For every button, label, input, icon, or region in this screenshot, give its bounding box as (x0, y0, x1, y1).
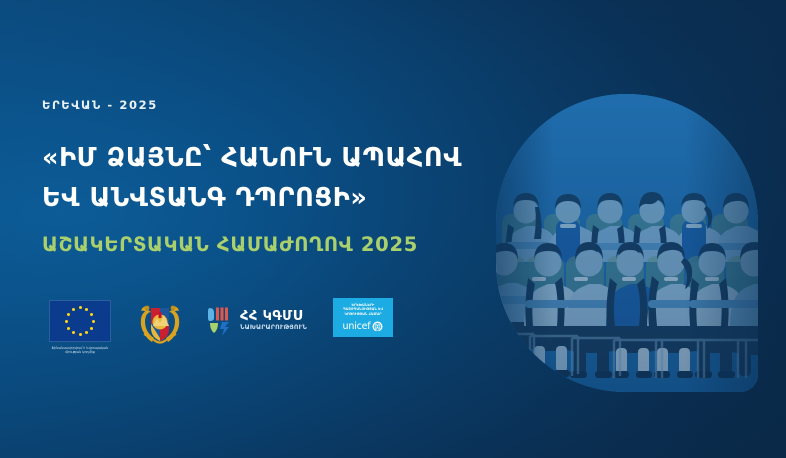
poster-headline: «ԻՄ ՁԱՅՆԸ՝ ՀԱՆՈՒՆ ԱՊԱՀՈՎ ԵՎ ԱՆՎՏԱՆԳ ԴՊՐՈ… (42, 138, 462, 218)
poster-text-block: ԵՐԵՎԱՆ - 2025 «ԻՄ ՁԱՅՆԸ՝ ՀԱՆՈՒՆ ԱՊԱՀՈՎ Ե… (42, 98, 462, 258)
headline-line-2: ԵՎ ԱՆՎՏԱՆԳ ԴՊՐՈՑԻ» (42, 178, 462, 218)
ministry-abbr: ՀՀ ԿԳՄՍ (240, 310, 307, 324)
unicef-badge: ԵՐԵԽԱՆԵՐԻ ՊԱՇՏՊԱՆՈՒԹՅԱՆ ԵՎ ԿՐԹՈՒԹՅԱՆ ՀԱՄ… (333, 298, 393, 337)
ministry-word: ՆԱԽԱՐԱՐՈՒԹՅՈՒՆ (240, 325, 307, 332)
armenia-coat-of-arms-logo (138, 300, 182, 348)
partner-logos-row: Ֆինանսավորվում է Եվրոպական միության կողմ… (48, 300, 393, 355)
ministry-logo: ՀՀ ԿԳՄՍ ՆԱԽԱՐԱՐՈՒԹՅՈՒՆ (208, 300, 307, 336)
event-location-year: ԵՐԵՎԱՆ - 2025 (42, 98, 462, 112)
eu-flag-icon (49, 300, 111, 342)
unicef-lockup: unicef (343, 321, 384, 332)
ministry-mark-icon (208, 306, 234, 336)
students-illustration-panel (496, 94, 758, 392)
students-illustration (496, 94, 758, 392)
eu-logo: Ֆինանսավորվում է Եվրոպական միության կողմ… (48, 300, 112, 355)
conference-poster: ԵՐԵՎԱՆ - 2025 «ԻՄ ՁԱՅՆԸ՝ ՀԱՆՈՒՆ ԱՊԱՀՈՎ Ե… (0, 0, 786, 458)
eu-stars (65, 306, 95, 336)
ministry-text: ՀՀ ԿԳՄՍ ՆԱԽԱՐԱՐՈՒԹՅՈՒՆ (240, 310, 307, 331)
eu-funding-caption: Ֆինանսավորվում է Եվրոպական միության կողմ… (45, 346, 115, 355)
headline-line-1: «ԻՄ ՁԱՅՆԸ՝ ՀԱՆՈՒՆ ԱՊԱՀՈՎ (42, 143, 462, 173)
unicef-logo: ԵՐԵԽԱՆԵՐԻ ՊԱՇՏՊԱՆՈՒԹՅԱՆ ԵՎ ԿՐԹՈՒԹՅԱՆ ՀԱՄ… (333, 300, 393, 337)
unicef-globe-icon (372, 321, 383, 332)
unicef-caption: ԵՐԵԽԱՆԵՐԻ ՊԱՇՏՊԱՆՈՒԹՅԱՆ ԵՎ ԿՐԹՈՒԹՅԱՆ ՀԱՄ… (337, 303, 389, 316)
coat-of-arms-icon (138, 298, 182, 348)
ministry-lockup: ՀՀ ԿԳՄՍ ՆԱԽԱՐԱՐՈՒԹՅՈՒՆ (208, 306, 307, 336)
poster-subheadline: ԱՇԱԿԵՐՏԱԿԱՆ ՀԱՄԱԺՈՂՈՎ 2025 (42, 232, 462, 258)
unicef-wordmark: unicef (343, 321, 371, 332)
